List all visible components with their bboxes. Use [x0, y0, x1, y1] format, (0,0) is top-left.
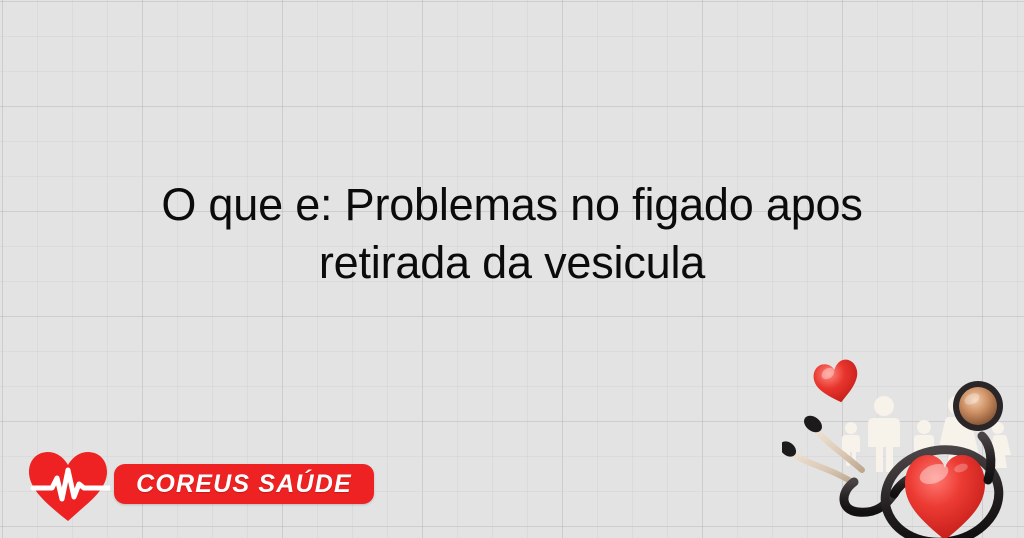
brand-logo[interactable]: COREUS SAÚDE [28, 448, 358, 524]
brand-badge: COREUS SAÚDE [114, 464, 374, 504]
heart-pulse-icon [28, 450, 110, 522]
slide-canvas: O que e: Problemas no figado apos retira… [0, 0, 1024, 538]
large-heart-icon [905, 455, 985, 538]
small-heart-icon [811, 358, 863, 407]
medical-illustration [782, 348, 1024, 538]
page-title: O que e: Problemas no figado apos retira… [40, 176, 984, 292]
brand-name-label: COREUS SAÚDE [136, 470, 352, 499]
page-title-line-2: retirada da vesicula [40, 234, 984, 292]
page-title-line-1: O que e: Problemas no figado apos [40, 176, 984, 234]
stethoscope-chestpiece-icon [953, 381, 1003, 431]
